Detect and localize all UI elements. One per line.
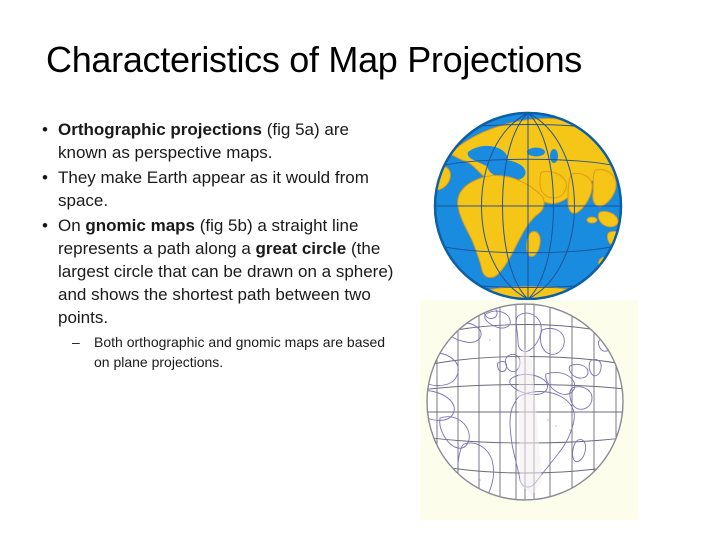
slide-canvas: Characteristics of Map Projections • Ort…	[0, 0, 720, 539]
list-item: • They make Earth appear as it would fro…	[34, 166, 394, 212]
list-item: • Orthographic projections (fig 5a) are …	[34, 118, 394, 164]
bullet-text: On gnomic maps (fig 5b) a straight line …	[58, 214, 394, 329]
orthographic-globe-figure	[432, 108, 624, 304]
bullet-text: Orthographic projections (fig 5a) are kn…	[58, 118, 394, 164]
bullet-text: They make Earth appear as it would from …	[58, 166, 394, 212]
dash-marker-icon: –	[72, 332, 94, 352]
list-item: • On gnomic maps (fig 5b) a straight lin…	[34, 214, 394, 329]
sub-list-item: – Both orthographic and gnomic maps are …	[72, 332, 394, 372]
sub-bullet-text: Both orthographic and gnomic maps are ba…	[94, 332, 394, 372]
bullet-list: • Orthographic projections (fig 5a) are …	[34, 118, 394, 372]
gnomonic-map-figure	[420, 300, 638, 520]
page-title: Characteristics of Map Projections	[46, 39, 686, 81]
bullet-marker-icon: •	[34, 166, 58, 189]
bullet-marker-icon: •	[34, 118, 58, 141]
bullet-marker-icon: •	[34, 214, 58, 237]
